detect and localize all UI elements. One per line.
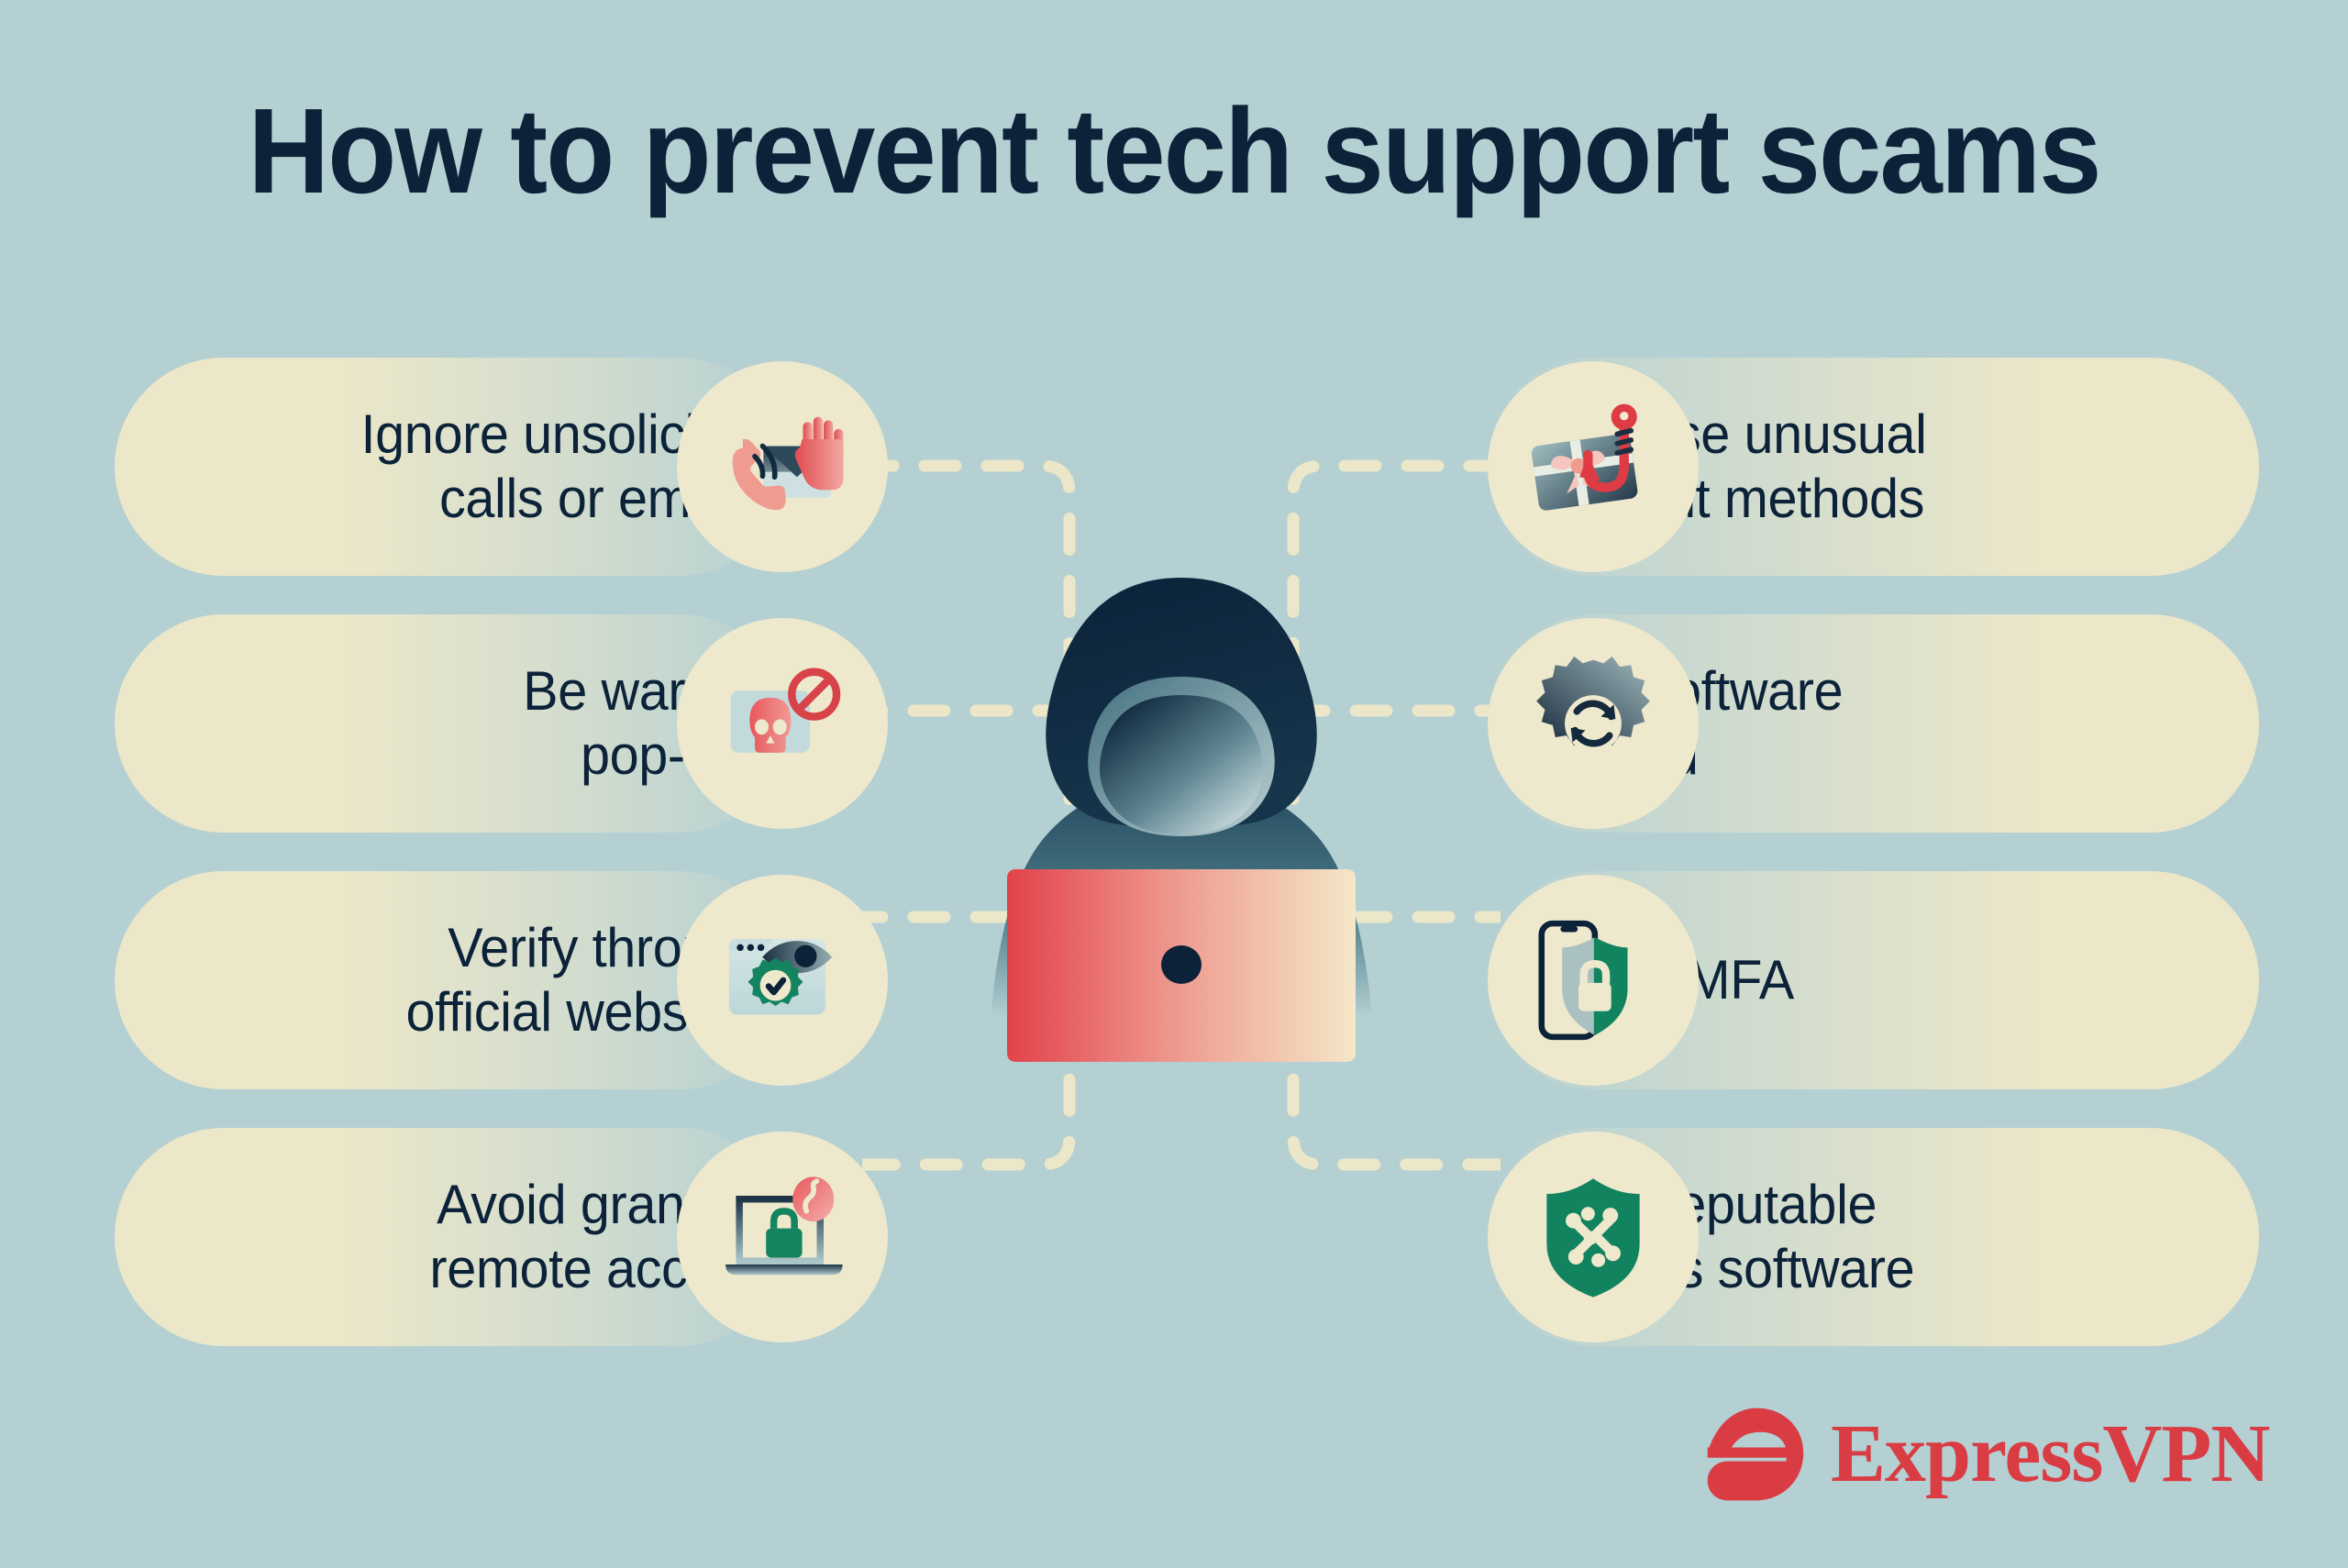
- infographic-canvas: How to prevent tech support scams Ignore…: [0, 0, 2348, 1568]
- expressvpn-logo[interactable]: ExpressVPN: [1704, 1403, 2269, 1506]
- gear-refresh-icon: [1488, 618, 1699, 829]
- laptop-lock-blocked-icon: [677, 1132, 888, 1342]
- page-title: How to prevent tech support scams: [83, 88, 2266, 215]
- phone-envelope-stop-hand-icon: [677, 361, 888, 572]
- hooded-hacker-illustration: [925, 550, 1438, 1137]
- browser-verified-badge-eye-icon: [677, 875, 888, 1086]
- gift-card-fishing-hook-icon: [1488, 361, 1699, 572]
- shield-virus-icon: [1488, 1132, 1699, 1342]
- expressvpn-e-mark: [1704, 1403, 1807, 1506]
- phone-shield-lock-icon: [1488, 875, 1699, 1086]
- expressvpn-wordmark: ExpressVPN: [1831, 1413, 2269, 1496]
- skull-popup-blocked-icon: [677, 618, 888, 829]
